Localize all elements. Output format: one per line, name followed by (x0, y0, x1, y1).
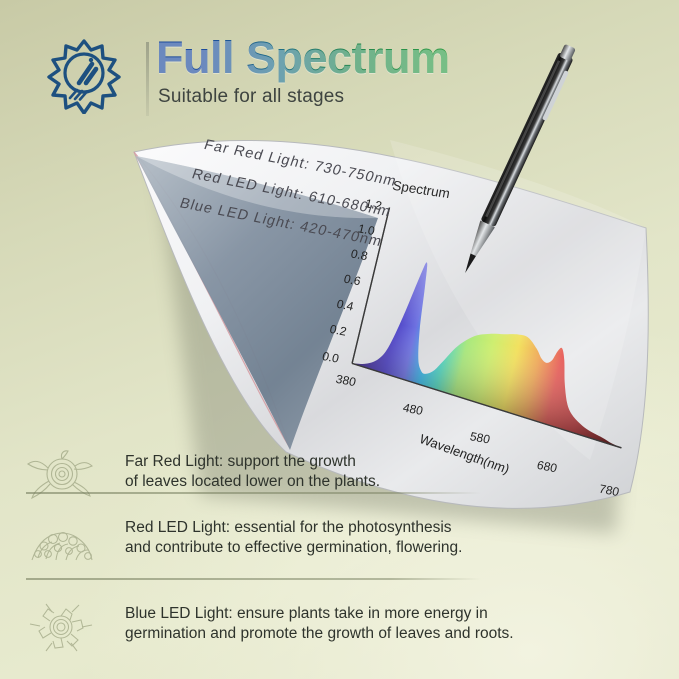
succulent-flower-icon (22, 600, 100, 654)
page-title: Full Spectrum (156, 32, 450, 84)
ballpoint-pen (420, 34, 620, 294)
bullet-line-2: and contribute to effective germination,… (125, 538, 462, 558)
bullet-line-1: Red LED Light: essential for the photosy… (125, 518, 462, 538)
spectrum-paper: Spectrum 1.2 1.0 0.8 0.6 0.4 0.2 0.0 380… (90, 100, 670, 570)
bullet-line-2: germination and promote the growth of le… (125, 624, 514, 644)
pen-cone (466, 221, 495, 259)
bullet-divider (26, 578, 481, 580)
bullet-text: Blue LED Light: ensure plants take in mo… (125, 604, 514, 644)
bullet-text: Red LED Light: essential for the photosy… (125, 518, 462, 558)
bullet-line-1: Blue LED Light: ensure plants take in mo… (125, 604, 514, 624)
bullet-text: Far Red Light: support the growth of lea… (125, 452, 380, 492)
bullet-line-2: of leaves located lower on the plants. (125, 472, 380, 492)
moss-plant-icon (22, 514, 100, 568)
bullet-line-1: Far Red Light: support the growth (125, 452, 380, 472)
bullet-divider (26, 492, 481, 494)
poster-canvas: Full Spectrum Suitable for all stages (0, 0, 679, 679)
pen-tip (462, 253, 476, 274)
